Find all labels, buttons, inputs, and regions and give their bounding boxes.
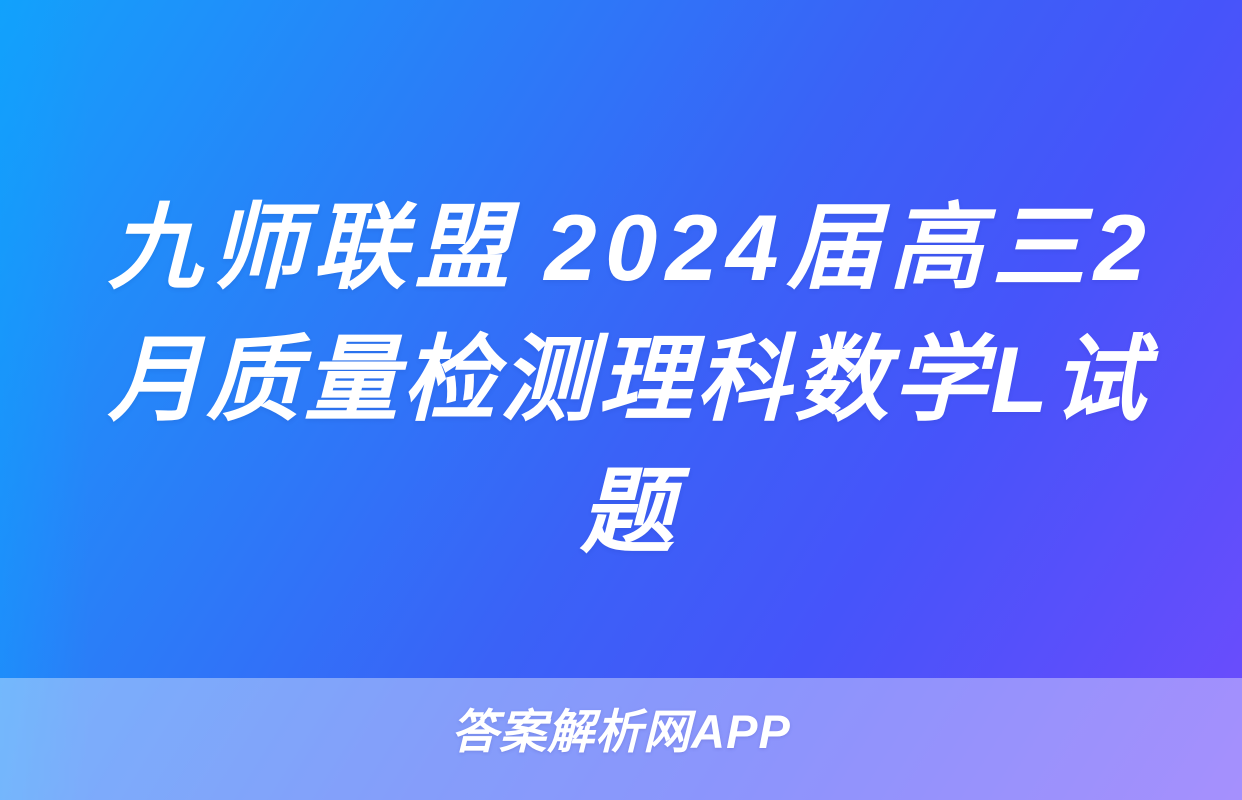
title-glyph: 届: [787, 182, 881, 314]
title-glyph: 0: [605, 182, 657, 314]
title-glyph: L: [990, 314, 1047, 446]
title-glyph: 2: [544, 182, 596, 314]
watermark-label: 答案解析网APP: [0, 703, 1242, 761]
title-glyph: 联: [313, 182, 407, 314]
title-glyph: 科: [696, 314, 790, 446]
title-glyph: 高: [889, 182, 983, 314]
title-glyph: 月: [108, 314, 202, 446]
title-line-1: 九师联盟 2024届高三2: [108, 182, 1146, 314]
title-glyph: 试: [1052, 314, 1146, 446]
title-line-3: 题: [108, 446, 1146, 578]
title-glyph: 量: [304, 314, 398, 446]
title-line-2: 月质量检测理科数学L试: [108, 314, 1146, 446]
title-glyph: 学: [892, 314, 986, 446]
title-glyph: 质: [206, 314, 300, 446]
title-glyph: 4: [726, 182, 778, 314]
cover-card: 九师联盟 2024届高三2 月质量检测理科数学L试 题 答案解析网APP: [0, 0, 1242, 800]
title-glyph: [517, 182, 536, 314]
title-glyph: 测: [500, 314, 594, 446]
title-glyph: 师: [210, 182, 304, 314]
title-glyph: 九: [108, 182, 202, 314]
title-glyph: 盟: [415, 182, 509, 314]
page-title: 九师联盟 2024届高三2 月质量检测理科数学L试 题: [108, 182, 1146, 578]
title-glyph: 三: [991, 182, 1085, 314]
title-glyph: 2: [666, 182, 718, 314]
title-glyph: 理: [598, 314, 692, 446]
title-glyph: 检: [402, 314, 496, 446]
title-glyph: 数: [794, 314, 888, 446]
title-glyph: 2: [1094, 182, 1146, 314]
